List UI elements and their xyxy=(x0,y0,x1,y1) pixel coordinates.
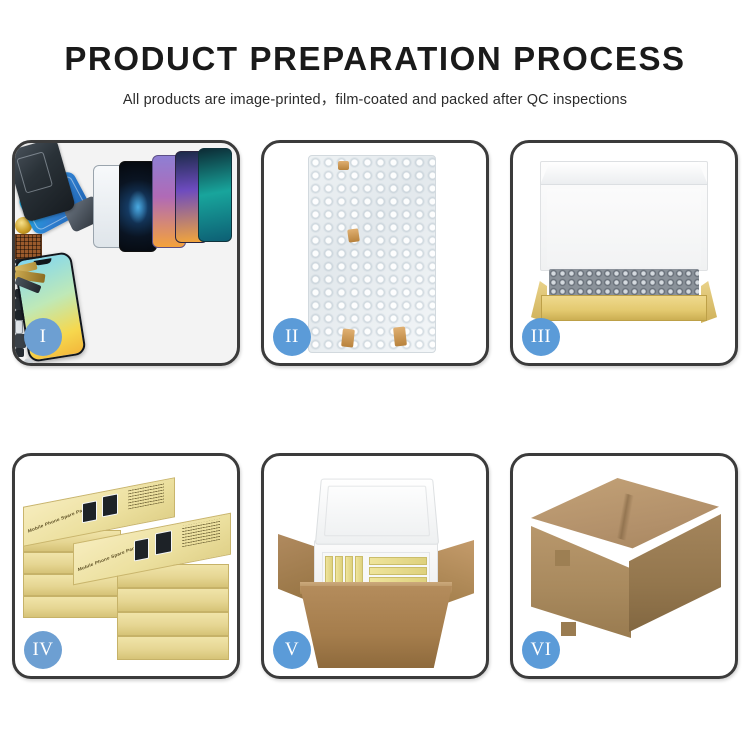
box-label-text-2: Mobile Phone Spare Parts xyxy=(78,544,139,572)
bubble-wrapped-items-icon xyxy=(549,269,699,296)
step-badge-5: V xyxy=(273,631,311,669)
carton-tape-patch-icon-2 xyxy=(561,622,576,636)
stacked-box-edge-7 xyxy=(117,612,229,636)
carton-body-icon xyxy=(300,586,452,668)
box-print-screen-1b xyxy=(102,493,118,517)
kraft-box-front-icon xyxy=(541,295,707,321)
foam-panel-icon xyxy=(547,189,701,267)
process-step-grid: I II III xyxy=(12,140,738,679)
step-badge-6: VI xyxy=(522,631,560,669)
page-header: PRODUCT PREPARATION PROCESS All products… xyxy=(0,0,750,109)
page-subtitle: All products are image-printed，film-coat… xyxy=(0,88,750,109)
phone-screen-teal-icon xyxy=(198,148,232,242)
process-step-panel-5: V xyxy=(261,453,489,679)
stacked-box-edge-6 xyxy=(117,588,229,612)
carton-tape-patch-icon-1 xyxy=(555,550,570,566)
process-step-panel-1: I xyxy=(12,140,240,366)
process-step-panel-6: VI xyxy=(510,453,738,679)
box-label-text-1: Mobile Phone Spare Parts xyxy=(28,505,89,533)
box-print-spec-lines-2 xyxy=(182,519,220,547)
phone-back-housing-icon xyxy=(12,140,76,223)
foam-box-lid-icon xyxy=(315,479,439,545)
box-print-spec-lines-1 xyxy=(128,482,164,509)
small-component-icon-5 xyxy=(15,348,24,357)
tape-piece-icon-1 xyxy=(338,161,349,170)
bubble-texture xyxy=(309,156,435,352)
tape-piece-icon-2 xyxy=(347,228,360,242)
step-badge-4: IV xyxy=(24,631,62,669)
foam-sheet-top-edge xyxy=(540,161,708,185)
tape-piece-icon-3 xyxy=(341,328,355,347)
process-step-panel-4: Mobile Phone Spare Parts Mobile Phone Sp… xyxy=(12,453,240,679)
step-badge-1: I xyxy=(24,318,62,356)
process-step-panel-2: II xyxy=(261,140,489,366)
bubble-wrap-bag-icon xyxy=(308,155,436,353)
stacked-box-edge-4 xyxy=(23,596,121,618)
step-badge-2: II xyxy=(273,318,311,356)
step-badge-3: III xyxy=(522,318,560,356)
box-print-screen-2a xyxy=(134,538,149,562)
tape-piece-icon-4 xyxy=(393,326,407,346)
box-print-screen-2b xyxy=(155,530,172,555)
box-print-screen-1a xyxy=(82,500,97,523)
stacked-box-edge-8 xyxy=(117,636,229,660)
sim-tray-icon xyxy=(15,320,23,334)
yellow-box-icon-6 xyxy=(369,567,427,575)
yellow-box-icon-5 xyxy=(369,557,427,565)
page-title: PRODUCT PREPARATION PROCESS xyxy=(0,42,750,75)
process-step-panel-3: III xyxy=(510,140,738,366)
